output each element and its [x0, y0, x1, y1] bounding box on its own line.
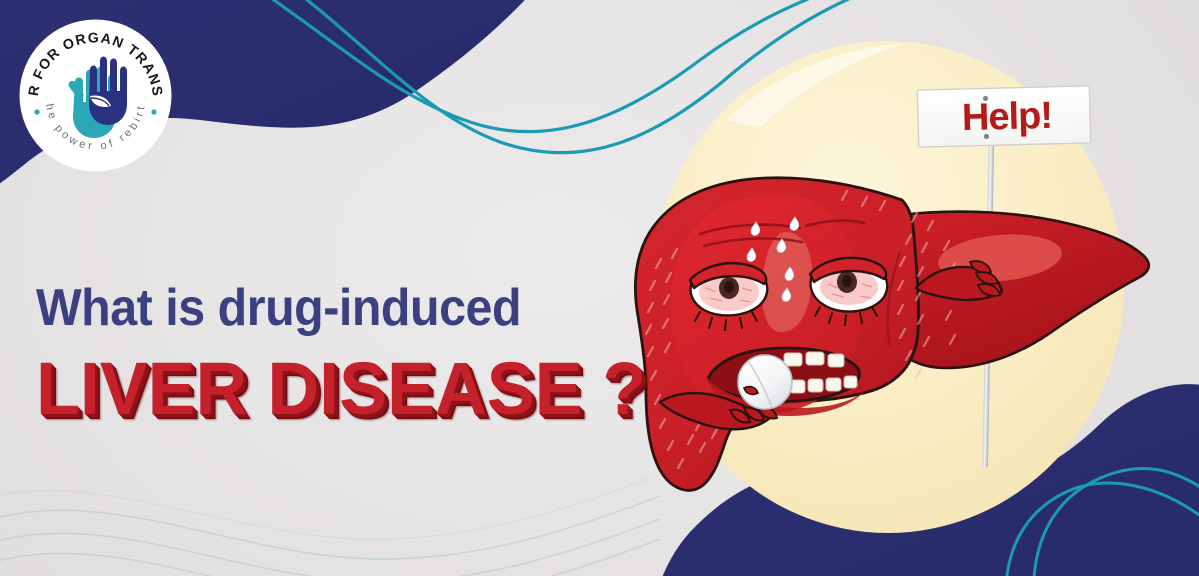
headline-line-2: LIVER DISEASE ?: [36, 350, 618, 428]
headline-block: What is drug-induced LIVER DISEASE ?: [36, 280, 636, 429]
white-pill: [738, 355, 792, 409]
logo-svg: CENTER FOR ORGAN TRANSPLANT The power of…: [18, 18, 173, 173]
help-sign: [917, 86, 1090, 147]
headline-line-1: What is drug-induced: [36, 280, 594, 336]
faint-waves-bottom-left: [0, 478, 660, 576]
logo-badge[interactable]: CENTER FOR ORGAN TRANSPLANT The power of…: [18, 18, 173, 173]
logo-dot-right: [151, 109, 156, 114]
logo-dot-left: [34, 109, 39, 114]
upper-teeth: [784, 352, 844, 367]
banner-canvas: CENTER FOR ORGAN TRANSPLANT The power of…: [0, 0, 1199, 576]
